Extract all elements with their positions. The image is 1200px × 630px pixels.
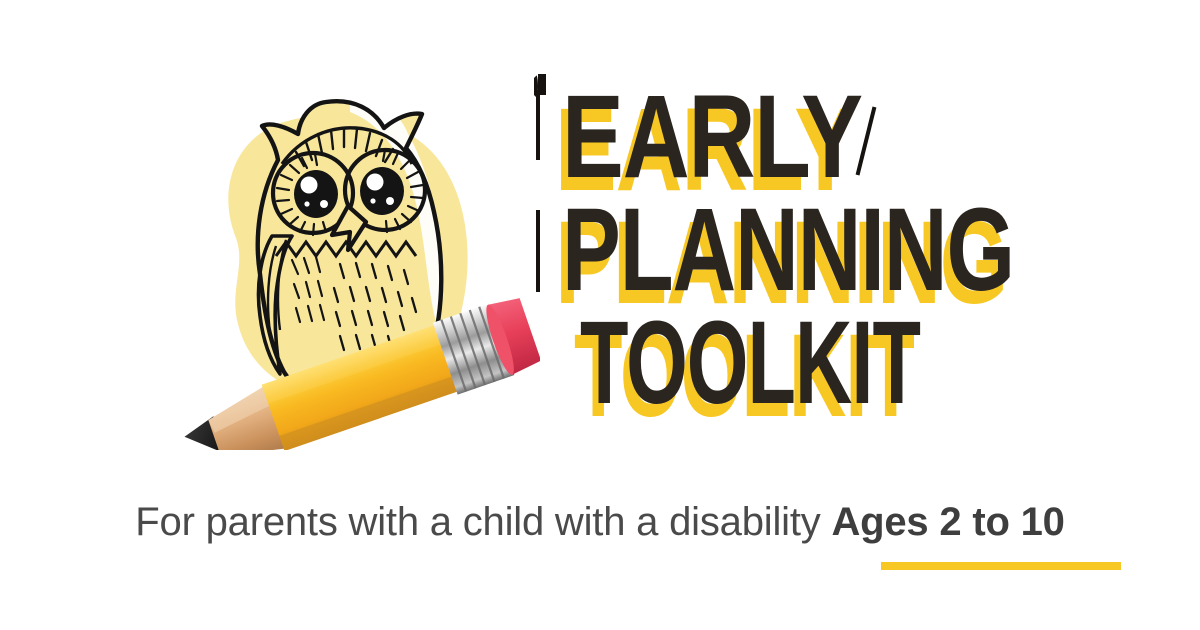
tagline-yellow-underline [881,562,1121,570]
bracket-bar-icon-planning-left [536,210,540,292]
poster-canvas: EARLY EARLY PLANNING PLANNING TOOLKIT TO… [0,0,1200,630]
title-line-toolkit: TOOLKIT TOOLKIT [580,304,1086,422]
bracket-bar-icon-early-left [536,90,540,160]
artwork-owl-pencil [150,60,540,450]
bracket-corner-icon-toolkit-right [542,74,546,95]
title-toolkit-text: TOOLKIT [580,297,920,429]
tagline-normal-text: For parents with a child with a disabili… [135,500,831,544]
title-line-early: EARLY EARLY [562,78,944,196]
title-block: EARLY EARLY PLANNING PLANNING TOOLKIT TO… [534,78,1154,448]
tagline-bold-text: Ages 2 to 10 [831,500,1064,544]
tagline: For parents with a child with a disabili… [0,500,1200,544]
title-line-planning: PLANNING PLANNING [562,191,1167,309]
